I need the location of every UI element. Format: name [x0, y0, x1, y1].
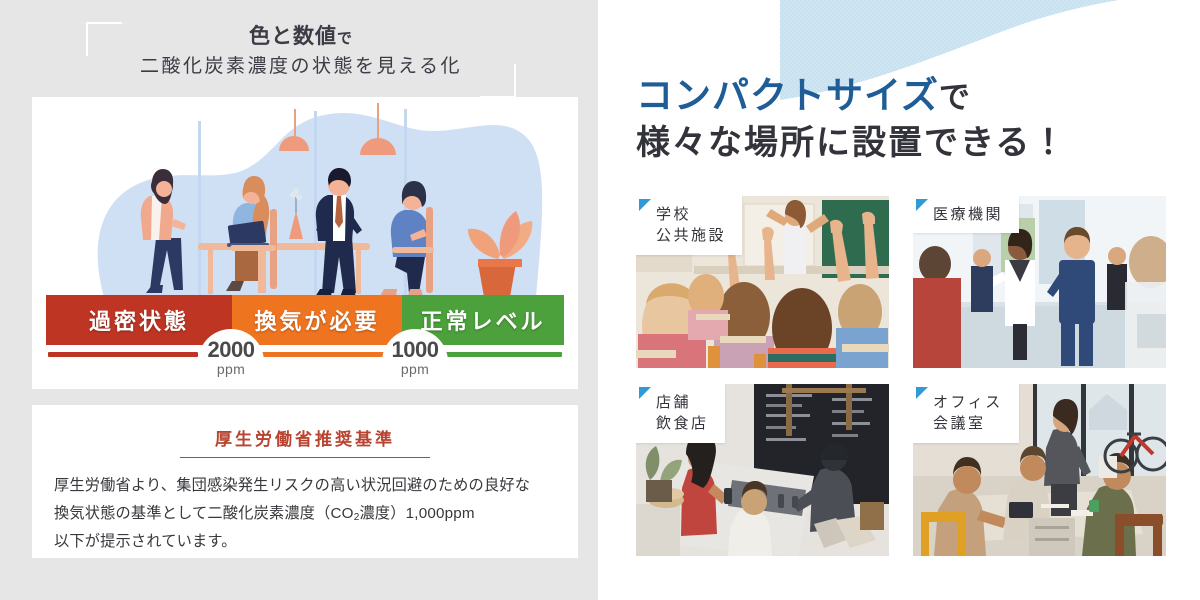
colorbar-underline-red — [48, 352, 198, 357]
use-case-badge-medical: 医療機関 — [913, 196, 1019, 233]
badge-line: 医療機関 — [933, 204, 1003, 225]
use-case-card-store[interactable]: 店舗 飲食店 — [636, 384, 889, 556]
badge-line: 店舗 — [656, 392, 709, 413]
note-body: 厚生労働省より、集団感染発生リスクの高い状況回避のための良好な 換気状態の基準と… — [54, 472, 556, 556]
ppm-marker-2000: 2000 ppm — [198, 329, 264, 389]
note-body-line3: 以下が提示されています。 — [54, 528, 556, 556]
colorbar-segment-label: 正常レベル — [420, 304, 545, 336]
note-body-line2: 換気状態の基準として二酸化炭素濃度（CO2濃度）1,000ppm — [54, 500, 556, 528]
ppm-marker-unit: ppm — [217, 361, 245, 379]
co2-level-colorbar: 過密状態 換気が必要 正常レベル — [46, 295, 564, 345]
ppm-marker-unit: ppm — [401, 361, 429, 379]
note-body-line2-part-b: 濃度）1,000ppm — [359, 505, 474, 522]
left-heading-line1: 色と数値で — [86, 22, 516, 49]
note-title: 厚生労働省推奨基準 — [180, 425, 430, 458]
left-heading-line1-main: 色と数値 — [249, 25, 337, 48]
note-body-co2-subscript: 2 — [354, 512, 360, 523]
use-case-card-medical[interactable]: 医療機関 — [913, 196, 1166, 368]
corner-bracket-top-left-icon — [86, 22, 122, 56]
badge-line: 飲食店 — [656, 413, 709, 434]
illustration-card: 過密状態 換気が必要 正常レベル 2000 ppm 1000 p — [32, 97, 578, 389]
badge-triangle-icon — [639, 199, 651, 211]
right-heading-line1-tail: で — [939, 80, 971, 115]
use-case-card-school[interactable]: 学校 公共施設 — [636, 196, 889, 368]
colorbar-segment-ventilation-needed: 換気が必要 — [232, 295, 402, 345]
right-heading-line2: 様々な場所に設置できる！ — [636, 122, 1176, 165]
left-panel: 色と数値で 二酸化炭素濃度の状態を見える化 — [0, 0, 598, 600]
colorbar-segment-label: 換気が必要 — [254, 304, 379, 336]
right-heading-block: コンパクトサイズで 様々な場所に設置できる！ — [636, 74, 1176, 164]
ppm-marker-value: 1000 — [392, 339, 439, 361]
badge-triangle-icon — [916, 387, 928, 399]
left-heading-line2: 二酸化炭素濃度の状態を見える化 — [86, 53, 516, 81]
colorbar-segment-crowded: 過密状態 — [46, 295, 232, 345]
right-panel: コンパクトサイズで 様々な場所に設置できる！ — [598, 0, 1200, 600]
badge-line: 公共施設 — [656, 225, 726, 246]
use-case-card-office[interactable]: オフィス 会議室 — [913, 384, 1166, 556]
badge-line: 会議室 — [933, 413, 1003, 434]
colorbar-underline-orange — [246, 352, 386, 357]
left-heading-line1-tail: で — [337, 30, 353, 47]
ppm-marker-1000: 1000 ppm — [382, 329, 448, 389]
colorbar-segment-label: 過密状態 — [89, 304, 189, 336]
ppm-marker-value: 2000 — [208, 339, 255, 361]
badge-triangle-icon — [916, 199, 928, 211]
use-case-card-grid: 学校 公共施設 — [636, 196, 1166, 572]
ministry-standard-note-card: 厚生労働省推奨基準 厚生労働省より、集団感染発生リスクの高い状況回避のための良好… — [32, 405, 578, 558]
card-row-top: 学校 公共施設 — [636, 196, 1166, 368]
badge-triangle-icon — [639, 387, 651, 399]
office-meeting-illustration — [32, 97, 578, 297]
page-root: 色と数値で 二酸化炭素濃度の状態を見える化 — [0, 0, 1200, 600]
note-body-line1: 厚生労働省より、集団感染発生リスクの高い状況回避のための良好な — [54, 472, 556, 500]
left-heading-block: 色と数値で 二酸化炭素濃度の状態を見える化 — [86, 22, 516, 92]
note-body-line2-part-a: 換気状態の基準として二酸化炭素濃度（CO — [54, 505, 354, 522]
use-case-badge-office: オフィス 会議室 — [913, 384, 1019, 443]
colorbar-underline-group — [46, 352, 564, 360]
right-heading-line1-main: コンパクトサイズ — [636, 75, 939, 116]
corner-bracket-bottom-right-icon — [480, 64, 516, 98]
card-row-bottom: 店舗 飲食店 — [636, 384, 1166, 556]
use-case-badge-school: 学校 公共施設 — [636, 196, 742, 255]
use-case-badge-store: 店舗 飲食店 — [636, 384, 725, 443]
right-heading-line1: コンパクトサイズで — [636, 74, 1176, 118]
badge-line: オフィス — [933, 392, 1003, 413]
badge-line: 学校 — [656, 204, 726, 225]
colorbar-underline-green — [431, 352, 562, 357]
